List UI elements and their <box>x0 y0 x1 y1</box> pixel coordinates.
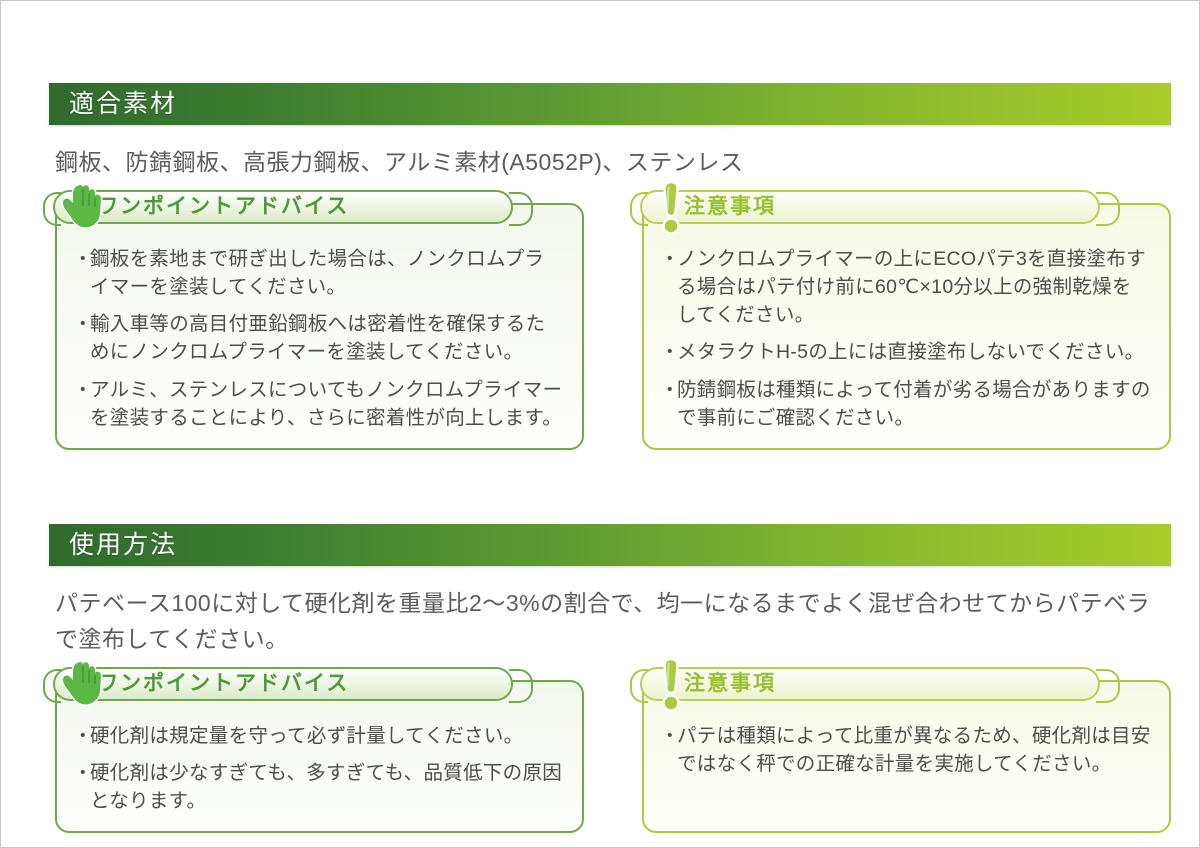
advice-callout-header: ワンポイントアドバイス <box>53 190 513 224</box>
callout-row: ワンポイントアドバイス 鋼板を素地まで研ぎ出した場合は、ノンクロムプライマ <box>55 203 1171 451</box>
list-item: 硬化剤は規定量を守って必ず計量してください。 <box>75 722 564 750</box>
list-item: パテは種類によって比重が異なるため、硬化剤は目安ではなく秤での正確な計量を実施し… <box>662 722 1151 779</box>
caution-bullet-list: ノンクロムプライマーの上にECOパテ3を直接塗布する場合はパテ付け前に60℃×1… <box>662 245 1151 433</box>
caution-callout-title: 注意事項 <box>684 673 776 694</box>
list-item: 防錆鋼板は種類によって付着が劣る場合がありますので事前にご確認ください。 <box>662 376 1151 433</box>
section-title: 使用方法 <box>49 533 177 558</box>
caution-callout-title: 注意事項 <box>684 196 776 217</box>
advice-callout-box: ワンポイントアドバイス 硬化剤は規定量を守って必ず計量してください。 <box>55 680 584 834</box>
caution-callout-box: 注意事項 パテは種類によって比重が異なるため、硬化剤は目安ではなく秤での正確な計… <box>642 680 1171 834</box>
list-item: 鋼板を素地まで研ぎ出した場合は、ノンクロムプライマーを塗装してください。 <box>75 245 564 302</box>
advice-bullet-list: 硬化剤は規定量を守って必ず計量してください。 硬化剤は少なすぎても、多すぎても、… <box>75 722 564 816</box>
caution-callout-header: 注意事項 <box>640 667 1100 701</box>
advice-callout-title: ワンポイントアドバイス <box>97 196 349 217</box>
caution-callout-box: 注意事項 ノンクロムプライマーの上にECOパテ3を直接塗布する場合はパテ付け前に… <box>642 203 1171 451</box>
advice-bullet-list: 鋼板を素地まで研ぎ出した場合は、ノンクロムプライマーを塗装してください。 輸入車… <box>75 245 564 433</box>
section-header-bar-usage-method: 使用方法 <box>49 524 1171 566</box>
advice-callout-header: ワンポイントアドバイス <box>53 667 513 701</box>
list-item: メタラクトH-5の上には直接塗布しないでください。 <box>662 338 1151 366</box>
section-divider-space <box>49 450 1171 524</box>
list-item: ノンクロムプライマーの上にECOパテ3を直接塗布する場合はパテ付け前に60℃×1… <box>662 245 1151 330</box>
list-item: 硬化剤は少なすぎても、多すぎても、品質低下の原因となります。 <box>75 759 564 816</box>
section-suitable-materials: 適合素材 鋼板、防錆鋼板、高張力鋼板、アルミ素材(A5052P)、ステンレス ワ… <box>49 83 1171 450</box>
advice-callout-box: ワンポイントアドバイス 鋼板を素地まで研ぎ出した場合は、ノンクロムプライマ <box>55 203 584 451</box>
section-title: 適合素材 <box>49 92 177 117</box>
list-item: アルミ、ステンレスについてもノンクロムプライマーを塗装することにより、さらに密着… <box>75 376 564 433</box>
advice-callout-title: ワンポイントアドバイス <box>97 673 349 694</box>
section-usage-method: 使用方法 パテベース100に対して硬化剤を重量比2〜3%の割合で、均一になるまで… <box>49 524 1171 833</box>
document-page: 適合素材 鋼板、防錆鋼板、高張力鋼板、アルミ素材(A5052P)、ステンレス ワ… <box>0 0 1200 848</box>
page-content: 適合素材 鋼板、防錆鋼板、高張力鋼板、アルミ素材(A5052P)、ステンレス ワ… <box>49 1 1171 833</box>
caution-bullet-list: パテは種類によって比重が異なるため、硬化剤は目安ではなく秤での正確な計量を実施し… <box>662 722 1151 779</box>
section-lead-text: パテベース100に対して硬化剤を重量比2〜3%の割合で、均一になるまでよく混ぜ合… <box>55 586 1170 657</box>
section-header-bar-suitable-materials: 適合素材 <box>49 83 1171 125</box>
section-lead-text: 鋼板、防錆鋼板、高張力鋼板、アルミ素材(A5052P)、ステンレス <box>55 145 1170 181</box>
caution-callout-header: 注意事項 <box>640 190 1100 224</box>
list-item: 輸入車等の高目付亜鉛鋼板へは密着性を確保するためにノンクロムプライマーを塗装して… <box>75 310 564 367</box>
callout-row: ワンポイントアドバイス 硬化剤は規定量を守って必ず計量してください。 <box>55 680 1171 834</box>
